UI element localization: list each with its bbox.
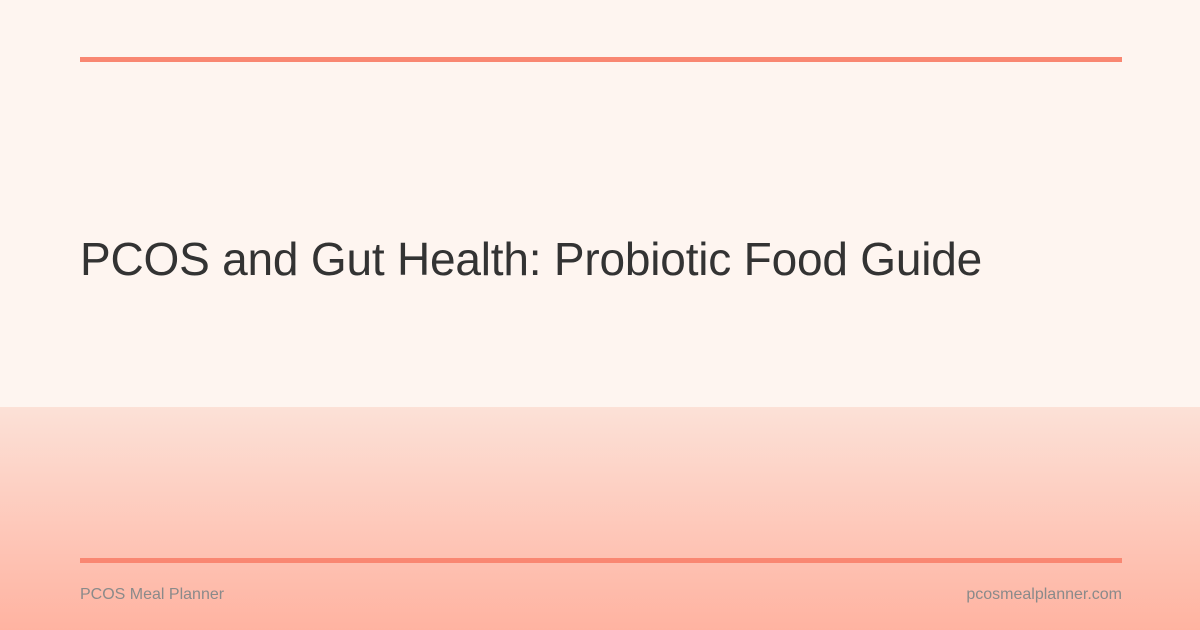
share-card: PCOS and Gut Health: Probiotic Food Guid… bbox=[0, 0, 1200, 630]
brand-name: PCOS Meal Planner bbox=[80, 585, 224, 605]
hero-section: PCOS and Gut Health: Probiotic Food Guid… bbox=[0, 0, 1200, 407]
page-title: PCOS and Gut Health: Probiotic Food Guid… bbox=[80, 232, 1120, 286]
site-url: pcosmealplanner.com bbox=[966, 585, 1122, 605]
top-accent-rule bbox=[80, 57, 1122, 62]
bottom-accent-rule bbox=[80, 558, 1122, 563]
footer-row: PCOS Meal Planner pcosmealplanner.com bbox=[80, 585, 1122, 605]
footer-section: PCOS Meal Planner pcosmealplanner.com bbox=[0, 407, 1200, 630]
page-title-container: PCOS and Gut Health: Probiotic Food Guid… bbox=[80, 232, 1120, 286]
